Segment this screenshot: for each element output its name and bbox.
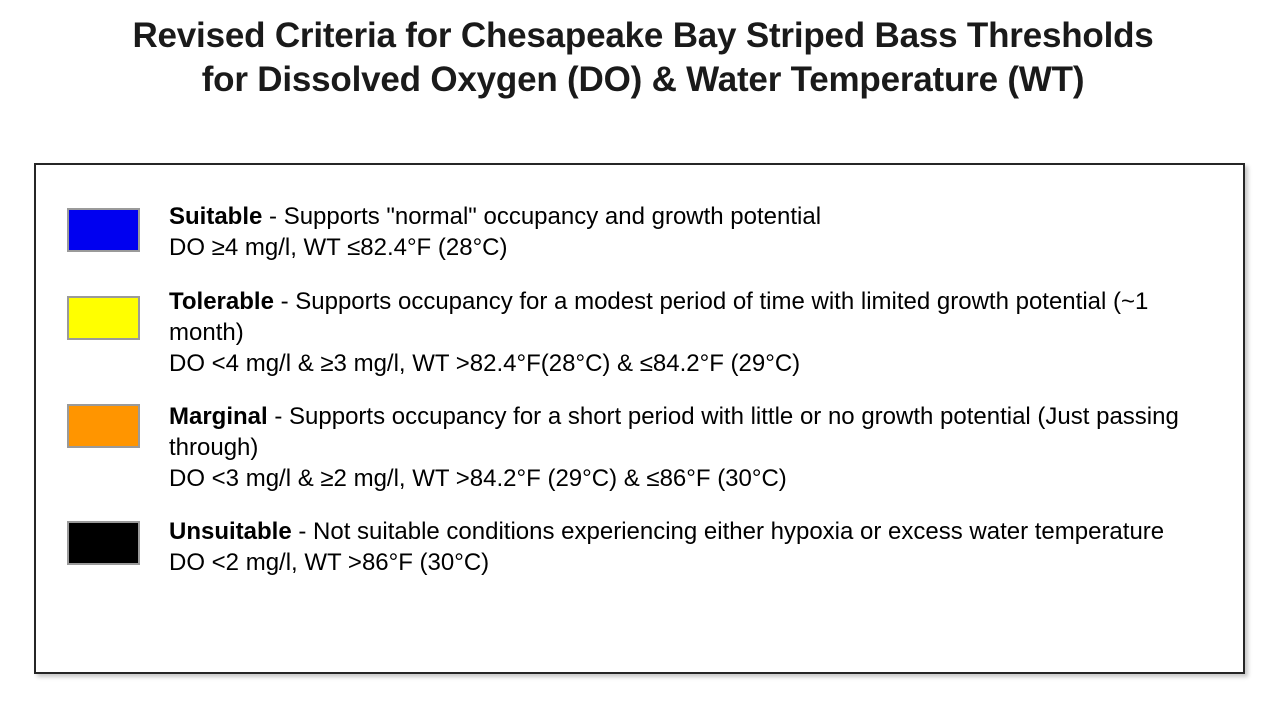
- color-swatch-blue: [67, 208, 140, 252]
- color-swatch-yellow: [67, 296, 140, 340]
- legend-term-tolerable: Tolerable: [169, 288, 274, 315]
- legend-panel: Suitable - Supports "normal" occupancy a…: [34, 163, 1245, 674]
- legend-criteria-unsuitable: DO <2 mg/l, WT >86°F (30°C): [169, 547, 1229, 578]
- legend-term-unsuitable: Unsuitable: [169, 518, 292, 545]
- legend-criteria-marginal: DO <3 mg/l & ≥2 mg/l, WT >84.2°F (29°C) …: [169, 463, 1229, 494]
- legend-item-unsuitable-text: Unsuitable - Not suitable conditions exp…: [169, 516, 1229, 578]
- legend-criteria-suitable: DO ≥4 mg/l, WT ≤82.4°F (28°C): [169, 232, 1229, 263]
- legend-description-suitable: - Supports "normal" occupancy and growth…: [262, 203, 821, 230]
- legend-term-suitable: Suitable: [169, 203, 262, 230]
- legend-description-marginal: - Supports occupancy for a short period …: [169, 403, 1179, 461]
- color-swatch-black: [67, 521, 140, 565]
- legend-item-suitable-text: Suitable - Supports "normal" occupancy a…: [169, 201, 1229, 263]
- legend-criteria-tolerable: DO <4 mg/l & ≥3 mg/l, WT >82.4°F(28°C) &…: [169, 348, 1229, 379]
- legend-item-tolerable-text: Tolerable - Supports occupancy for a mod…: [169, 286, 1229, 379]
- legend-item-marginal-text: Marginal - Supports occupancy for a shor…: [169, 401, 1229, 494]
- page-title-line-1: Revised Criteria for Chesapeake Bay Stri…: [0, 14, 1286, 58]
- legend-description-tolerable: - Supports occupancy for a modest period…: [169, 288, 1148, 346]
- legend-term-marginal: Marginal: [169, 403, 268, 430]
- page-title-line-2: for Dissolved Oxygen (DO) & Water Temper…: [0, 58, 1286, 102]
- legend-description-unsuitable: - Not suitable conditions experiencing e…: [292, 518, 1164, 545]
- color-swatch-orange: [67, 404, 140, 448]
- page-title: Revised Criteria for Chesapeake Bay Stri…: [0, 14, 1286, 102]
